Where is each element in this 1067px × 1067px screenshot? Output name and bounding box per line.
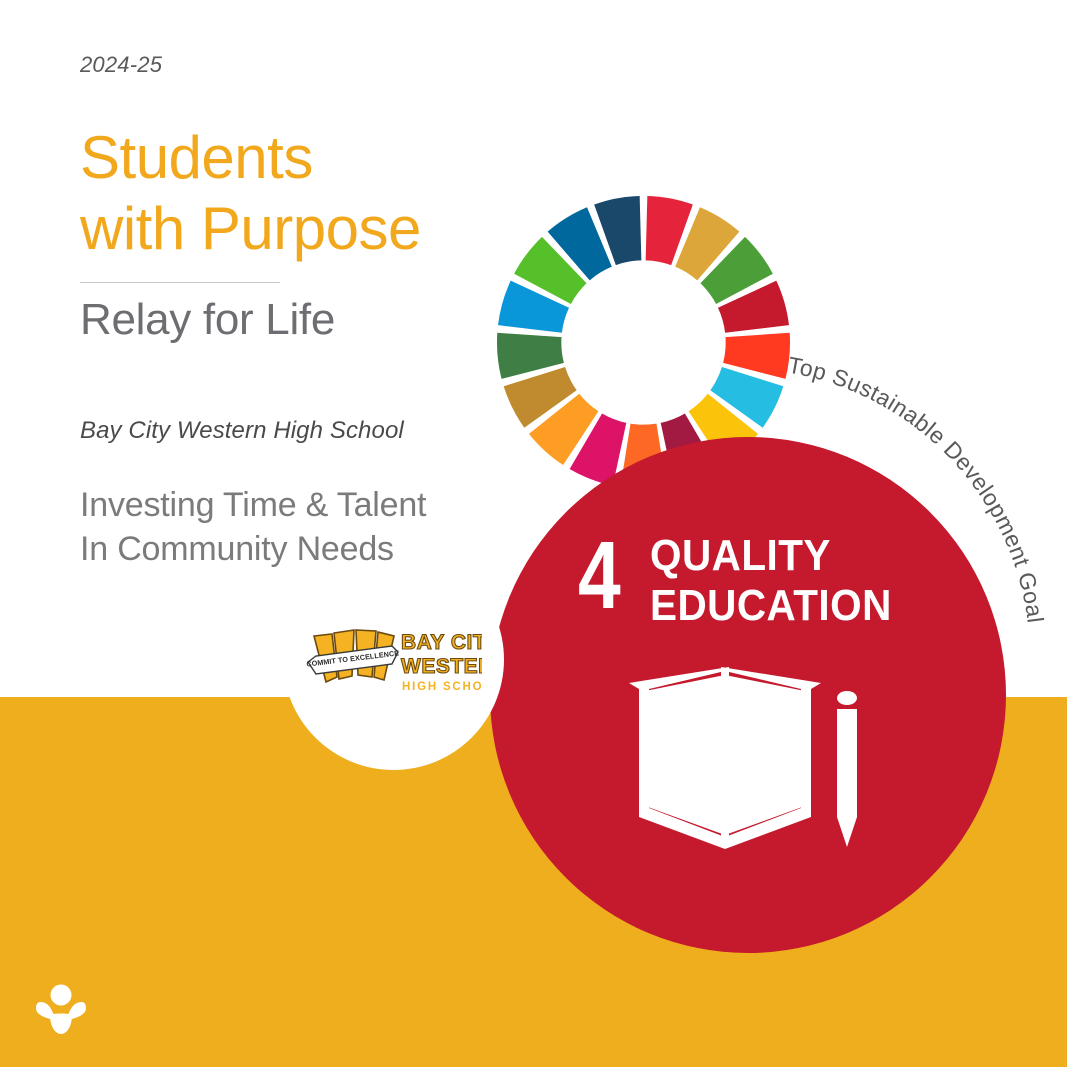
school-logo-line2: WESTERN <box>401 655 482 678</box>
pencil-tip <box>837 817 857 847</box>
poster-canvas: Top Sustainable Development Goal 4 QUALI… <box>0 0 1067 1067</box>
page-subtitle: Relay for Life <box>80 293 500 347</box>
people-raising-arms-icon <box>30 982 92 1038</box>
text-column: 2024-25 Students with Purpose Relay for … <box>80 52 500 571</box>
book-left-page <box>645 675 725 835</box>
brand-mark-body <box>50 1014 72 1035</box>
school-logo-line1: BAY CITY <box>401 631 482 654</box>
pencil-body <box>837 709 857 817</box>
school-logo: COMMIT TO EXCELLENCE BAY CITY WESTERN HI… <box>306 622 482 698</box>
sdg-number: 4 <box>578 528 618 624</box>
title-divider <box>80 282 280 283</box>
sdg-label: 4 QUALITY EDUCATION <box>578 528 913 631</box>
organization-name: Bay City Western High School <box>80 417 500 445</box>
book-right-page <box>725 675 805 835</box>
brand-mark-head <box>51 985 72 1006</box>
page-title: Students with Purpose <box>80 122 500 264</box>
school-year: 2024-25 <box>80 52 500 78</box>
pencil-eraser <box>837 691 857 705</box>
school-logo-line3: HIGH SCHOOL <box>402 681 482 693</box>
open-book-and-pencil-icon <box>625 665 875 865</box>
tagline: Investing Time & Talent In Community Nee… <box>80 483 500 571</box>
sdg-title: QUALITY EDUCATION <box>650 528 892 631</box>
